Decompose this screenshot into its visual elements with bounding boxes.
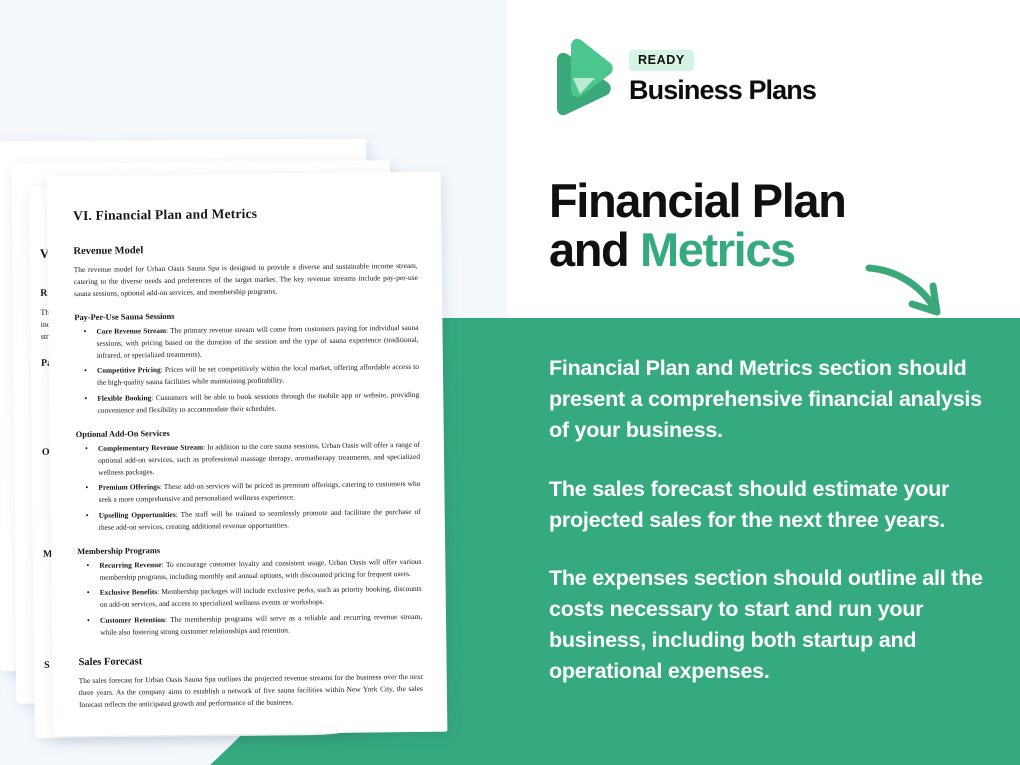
document-paragraph-sales-forecast: The sales forecast for Urban Oasis Sauna… (79, 671, 423, 711)
brand-logo[interactable]: READY Business Plans (549, 32, 949, 124)
panel-paragraph: Financial Plan and Metrics section shoul… (549, 353, 994, 447)
document-bullet-term: Complementary Revenue Stream (98, 442, 203, 452)
page-title-line-2-accent: Metrics (640, 223, 795, 276)
document-bullet-item: Flexible Booking: Customers will be able… (75, 389, 419, 417)
document-bullet-list: Core Revenue Stream: The primary revenue… (74, 322, 419, 417)
document-bullet-term: Recurring Revenue (99, 560, 161, 570)
brand-wordmark-group: READY Business Plans (629, 50, 816, 106)
document-bullet-item: Premium Offerings: These add-on services… (76, 478, 420, 506)
document-page-front: VI. Financial Plan and Metrics Revenue M… (47, 172, 448, 737)
ready-badge: READY (629, 50, 694, 71)
curved-arrow-down-right-icon (865, 258, 965, 324)
page-title-line-1: Financial Plan (549, 174, 845, 227)
page-title-line-2-plain: and (549, 223, 640, 276)
panel-description: Financial Plan and Metrics section shoul… (549, 353, 994, 688)
document-bullet-item: Core Revenue Stream: The primary revenue… (74, 322, 418, 362)
document-heading-revenue-model: Revenue Model (73, 242, 417, 257)
document-bullet-list: Recurring Revenue: To encourage customer… (77, 556, 422, 639)
document-section-heading: Pay-Per-Use Sauna Sessions (74, 309, 418, 322)
play-triangle-logo-icon (549, 38, 615, 118)
document-bullet-item: Recurring Revenue: To encourage customer… (77, 556, 421, 584)
document-bullet-term: Flexible Booking (97, 393, 151, 403)
document-heading-sales-forecast: Sales Forecast (78, 653, 422, 668)
document-bullet-term: Customer Retention (100, 615, 165, 625)
document-section-heading: Optional Add-On Services (76, 426, 420, 439)
document-paragraph-revenue-model: The revenue model for Urban Oasis Sauna … (74, 260, 418, 300)
document-bullet-list: Complementary Revenue Stream: In additio… (76, 439, 421, 534)
document-stack: VI. Re The inc stre Pay Op M S VI. Finan… (0, 128, 500, 728)
document-bullet-item: Competitive Pricing: Prices will be set … (75, 361, 419, 389)
document-title: VI. Financial Plan and Metrics (73, 204, 417, 224)
document-sections: Pay-Per-Use Sauna SessionsCore Revenue S… (74, 309, 422, 639)
document-section-heading: Membership Programs (77, 543, 421, 556)
document-bullet-item: Upselling Opportunities: The staff will … (77, 506, 421, 534)
document-bullet-item: Customer Retention: The membership progr… (78, 611, 422, 639)
document-bullet-item: Complementary Revenue Stream: In additio… (76, 439, 420, 479)
document-bullet-term: Competitive Pricing (97, 366, 161, 376)
document-bullet-item: Exclusive Benefits: Membership packages … (78, 583, 422, 611)
panel-paragraph: The sales forecast should estimate your … (549, 474, 994, 536)
document-bullet-term: Premium Offerings (98, 482, 160, 492)
document-bullet-term: Upselling Opportunities (99, 510, 176, 520)
brand-wordmark: Business Plans (629, 75, 816, 106)
panel-paragraph: The expenses section should outline all … (549, 563, 994, 688)
document-content: VI. Financial Plan and Metrics Revenue M… (47, 172, 448, 737)
document-bullet-term: Core Revenue Stream (96, 326, 166, 336)
document-bullet-term: Exclusive Benefits (100, 588, 158, 598)
